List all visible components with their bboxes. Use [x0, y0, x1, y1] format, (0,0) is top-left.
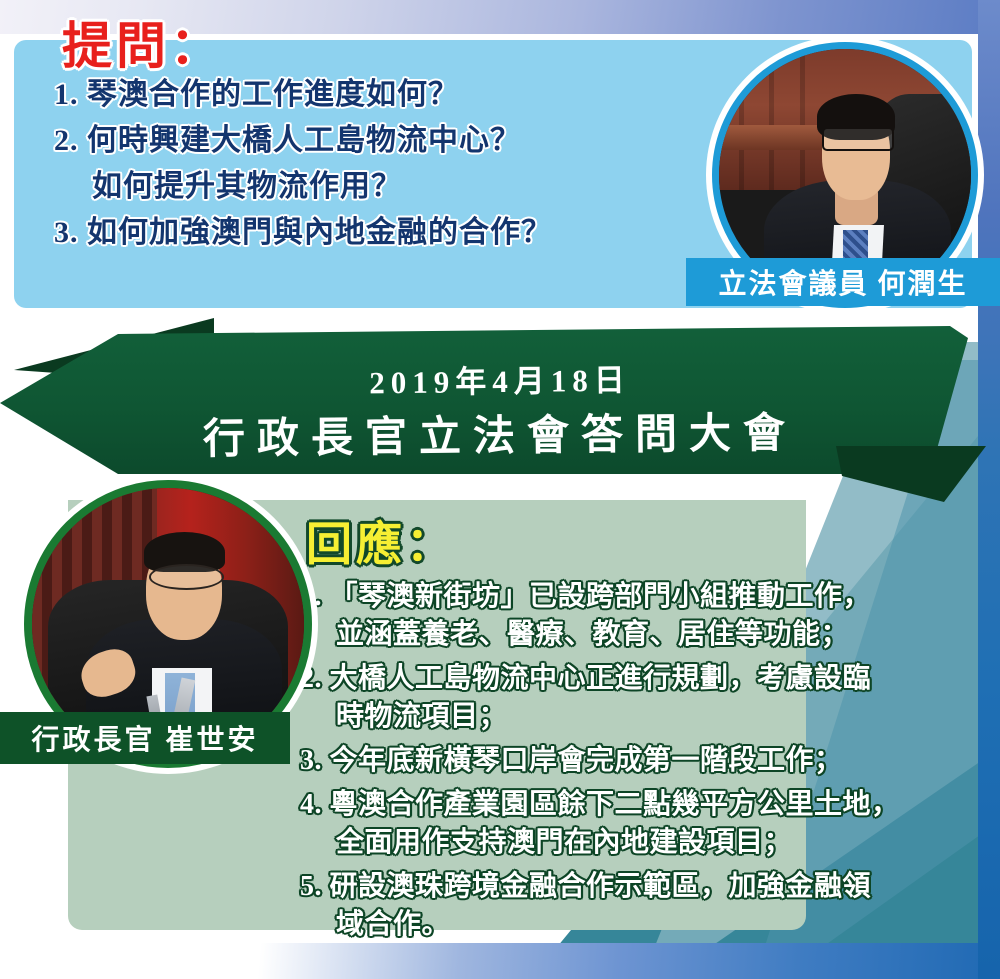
question-item: 3. 如何加強澳門與內地金融的合作？ — [54, 210, 694, 256]
legislator-name-label: 立法會議員 何潤生 — [686, 258, 1000, 306]
answer-number: 5. — [300, 871, 322, 902]
banner-title: 行政長官立法會答問大會 — [0, 397, 1000, 468]
answer-text-continuation: 全面用作支持澳門在內地建設項目； — [300, 824, 990, 862]
question-item-continuation: 如何提升其物流作用？ — [54, 164, 694, 210]
chief-executive-name-label: 行政長官 崔世安 — [0, 712, 290, 764]
question-text: 何時興建大橋人工島物流中心？ — [87, 124, 521, 157]
question-text: 如何加強澳門與內地金融的合作？ — [87, 216, 552, 249]
answer-heading: 回應： — [306, 508, 456, 574]
answer-item: 5. 研設澳珠跨境金融合作示範區，加強金融領 域合作。 — [300, 868, 990, 944]
answer-text-continuation: 時物流項目； — [300, 698, 990, 736]
poster-canvas: 提問： 1. 琴澳合作的工作進度如何？ 2. 何時興建大橋人工島物流中心？ 如何… — [0, 0, 1000, 979]
answer-item: 3. 今年底新橫琴口岸會完成第一階段工作； — [300, 742, 990, 780]
question-number: 3. — [54, 216, 79, 249]
question-number: 2. — [54, 124, 79, 157]
question-item: 1. 琴澳合作的工作進度如何？ — [54, 72, 694, 118]
answer-item: 2. 大橋人工島物流中心正進行規劃，考慮設臨 時物流項目； — [300, 660, 990, 736]
answer-text-continuation: 並涵蓋養老、醫療、教育、居住等功能； — [300, 616, 990, 654]
question-number: 1. — [54, 78, 79, 111]
question-list: 1. 琴澳合作的工作進度如何？ 2. 何時興建大橋人工島物流中心？ 如何提升其物… — [54, 72, 694, 256]
question-heading: 提問： — [62, 6, 224, 78]
answer-text: 今年底新橫琴口岸會完成第一階段工作； — [330, 745, 843, 776]
answer-text: 大橋人工島物流中心正進行規劃，考慮設臨 — [330, 663, 872, 694]
answer-item: 1. 「琴澳新街坊」已設跨部門小組推動工作， 並涵蓋養老、醫療、教育、居住等功能… — [300, 578, 990, 654]
answer-list: 1. 「琴澳新街坊」已設跨部門小組推動工作， 並涵蓋養老、醫療、教育、居住等功能… — [300, 578, 990, 950]
question-text: 琴澳合作的工作進度如何？ — [87, 78, 459, 111]
question-item: 2. 何時興建大橋人工島物流中心？ — [54, 118, 694, 164]
answer-text: 「琴澳新街坊」已設跨部門小組推動工作， — [330, 581, 872, 612]
answer-item: 4. 粵澳合作產業園區餘下二點幾平方公里土地， 全面用作支持澳門在內地建設項目； — [300, 786, 990, 862]
answer-text: 研設澳珠跨境金融合作示範區，加強金融領 — [330, 871, 872, 902]
answer-text: 粵澳合作產業園區餘下二點幾平方公里土地， — [330, 789, 900, 820]
event-banner: 2019年4月18日 行政長官立法會答問大會 — [0, 318, 1000, 500]
answer-text-continuation: 域合作。 — [300, 906, 990, 944]
answer-number: 4. — [300, 789, 322, 820]
